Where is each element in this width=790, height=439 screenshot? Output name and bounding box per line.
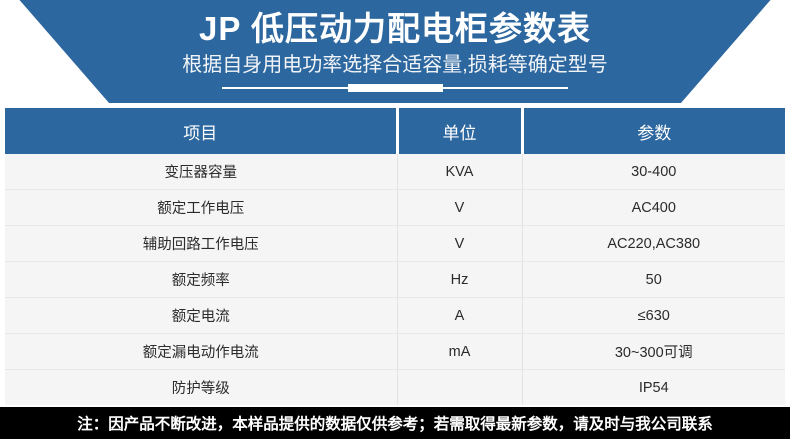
cell-item: 额定工作电压 bbox=[5, 190, 397, 226]
cell-unit: A bbox=[397, 298, 522, 334]
cell-parameter: AC220,AC380 bbox=[522, 226, 785, 262]
table-row: 额定漏电动作电流 mA 30~300可调 bbox=[5, 334, 785, 370]
column-header-parameter: 参数 bbox=[522, 108, 785, 154]
cell-unit: mA bbox=[397, 334, 522, 370]
cell-unit: KVA bbox=[397, 154, 522, 190]
footer-bar: 注：因产品不断改进，本样品提供的数据仅供参考；若需取得最新参数，请及时与我公司联… bbox=[0, 407, 790, 439]
cell-unit bbox=[397, 370, 522, 406]
spec-sheet-page: JP 低压动力配电柜参数表 根据自身用电功率选择合适容量,损耗等确定型号 项目 … bbox=[0, 0, 790, 439]
cell-parameter: 30~300可调 bbox=[522, 334, 785, 370]
cell-parameter: IP54 bbox=[522, 370, 785, 406]
banner-text-block: JP 低压动力配电柜参数表 根据自身用电功率选择合适容量,损耗等确定型号 bbox=[0, 0, 790, 103]
page-subtitle: 根据自身用电功率选择合适容量,损耗等确定型号 bbox=[0, 50, 790, 78]
table-header-row: 项目 单位 参数 bbox=[5, 108, 785, 154]
spec-table-container: 项目 单位 参数 变压器容量 KVA 30-400 额定工作电压 V AC400… bbox=[5, 108, 785, 405]
cell-parameter: ≤630 bbox=[522, 298, 785, 334]
table-row: 额定工作电压 V AC400 bbox=[5, 190, 785, 226]
header-banner: JP 低压动力配电柜参数表 根据自身用电功率选择合适容量,损耗等确定型号 bbox=[0, 0, 790, 103]
table-row: 防护等级 IP54 bbox=[5, 370, 785, 406]
cell-unit: V bbox=[397, 190, 522, 226]
cell-parameter: 30-400 bbox=[522, 154, 785, 190]
column-header-unit: 单位 bbox=[397, 108, 522, 154]
spec-table-body: 变压器容量 KVA 30-400 额定工作电压 V AC400 辅助回路工作电压… bbox=[5, 154, 785, 405]
cell-item: 防护等级 bbox=[5, 370, 397, 406]
table-row: 额定频率 Hz 50 bbox=[5, 262, 785, 298]
table-row: 额定电流 A ≤630 bbox=[5, 298, 785, 334]
cell-item: 额定电流 bbox=[5, 298, 397, 334]
cell-item: 额定漏电动作电流 bbox=[5, 334, 397, 370]
cell-unit: Hz bbox=[397, 262, 522, 298]
column-header-item: 项目 bbox=[5, 108, 397, 154]
page-title: JP 低压动力配电柜参数表 bbox=[0, 0, 790, 50]
cell-item: 额定频率 bbox=[5, 262, 397, 298]
cell-parameter: 50 bbox=[522, 262, 785, 298]
spec-table-header: 项目 单位 参数 bbox=[5, 108, 785, 154]
table-row: 辅助回路工作电压 V AC220,AC380 bbox=[5, 226, 785, 262]
table-row: 变压器容量 KVA 30-400 bbox=[5, 154, 785, 190]
footer-note: 注：因产品不断改进，本样品提供的数据仅供参考；若需取得最新参数，请及时与我公司联… bbox=[77, 412, 713, 434]
cell-parameter: AC400 bbox=[522, 190, 785, 226]
spec-table: 项目 单位 参数 变压器容量 KVA 30-400 额定工作电压 V AC400… bbox=[5, 108, 785, 405]
cell-item: 变压器容量 bbox=[5, 154, 397, 190]
cell-item: 辅助回路工作电压 bbox=[5, 226, 397, 262]
cell-unit: V bbox=[397, 226, 522, 262]
